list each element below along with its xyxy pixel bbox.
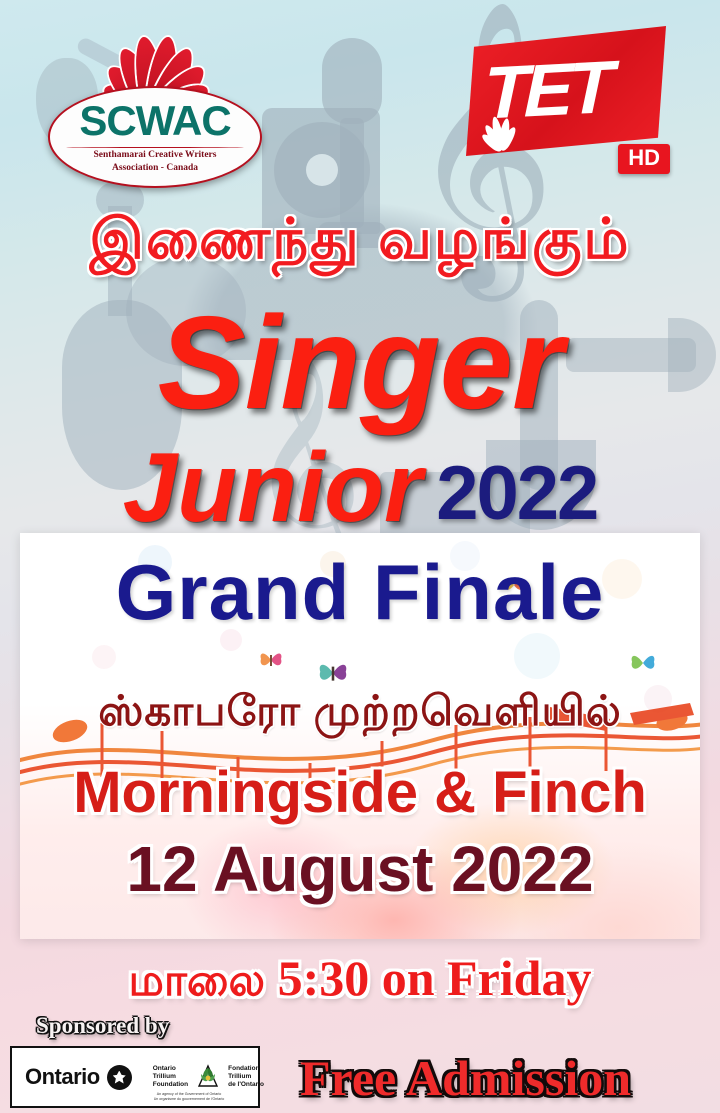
otf-en-line3: Foundation (153, 1081, 188, 1089)
vinyl-record-silhouette-icon (274, 122, 370, 218)
presented-by-tamil: இணைந்து வழங்கும் (0, 207, 720, 271)
otf-fine-print-line2: Un organisme du gouvernement de l'Ontari… (130, 1097, 248, 1102)
otf-fr-line1: Fondation (228, 1065, 264, 1073)
vinyl-record-hole-icon (306, 154, 338, 186)
title-junior: Junior (123, 438, 422, 536)
tet-logo[interactable]: TET HD (466, 26, 666, 156)
scwac-oval-badge: SCWAC Senthamarai Creative Writers Assoc… (48, 86, 262, 188)
scwac-subtitle-line2: Association - Canada (50, 162, 260, 175)
venue-english: Morningside & Finch (20, 761, 700, 825)
otf-french-text: Fondation Trillium de l'Ontario (228, 1065, 264, 1089)
microphone-head-silhouette-icon (322, 38, 382, 124)
confetti-dot (514, 633, 560, 679)
grand-finale-headline: Grand Finale (20, 553, 700, 631)
otf-fine-print: An agency of the Government of Ontario U… (130, 1092, 248, 1102)
otf-en-line1: Ontario (153, 1065, 188, 1073)
scwac-acronym: SCWAC (50, 97, 260, 145)
ontario-wordmark: Ontario (25, 1064, 100, 1090)
butterfly-icon (316, 659, 350, 687)
title-singer: Singer (0, 297, 720, 429)
otf-fr-line3: de l'Ontario (228, 1081, 264, 1089)
otf-fr-line2: Trillium (228, 1073, 264, 1081)
scwac-logo[interactable]: SCWAC Senthamarai Creative Writers Assoc… (48, 24, 258, 184)
event-time-tamil-prefix: மாலை (129, 956, 266, 1005)
event-info-panel: Grand Finale ஸ்காபரோ முற்றவெளியில் Morni… (20, 533, 700, 939)
sponsor-logo-box[interactable]: Ontario Ontario Trillium Foundation Fond… (10, 1046, 260, 1108)
sponsored-by-label: Sponsored by (36, 1013, 169, 1039)
butterfly-icon (258, 649, 284, 671)
ontario-trillium-foundation-logo: Ontario Trillium Foundation Fondation Tr… (144, 1062, 264, 1092)
ontario-logo: Ontario (12, 1064, 144, 1090)
event-time: மாலை 5:30 on Friday (0, 948, 720, 1011)
scwac-subtitle-line1: Senthamarai Creative Writers (50, 149, 260, 162)
confetti-dot (92, 645, 116, 669)
trillium-flower-icon (192, 1062, 224, 1092)
venue-tamil: ஸ்காபரோ முற்றவெளியில் (20, 685, 700, 737)
ontario-trillium-badge-icon (107, 1065, 132, 1090)
otf-english-text: Ontario Trillium Foundation (153, 1065, 188, 1089)
butterfly-icon (628, 651, 658, 675)
title-junior-row: Junior 2022 (0, 438, 720, 536)
otf-en-line2: Trillium (153, 1073, 188, 1081)
tet-wordmark: TET (483, 47, 665, 130)
title-year: 2022 (436, 456, 597, 536)
free-admission-label: Free Admission (300, 1050, 631, 1106)
hd-badge: HD (618, 144, 670, 174)
event-time-value: 5:30 on Friday (278, 950, 592, 1006)
event-poster: 𝄞 𝄞 SCWAC Senthamarai Creative Writers (0, 0, 720, 1113)
scwac-subtitle: Senthamarai Creative Writers Association… (50, 149, 260, 175)
event-date: 12 August 2022 (20, 833, 700, 905)
scwac-divider (66, 147, 244, 148)
